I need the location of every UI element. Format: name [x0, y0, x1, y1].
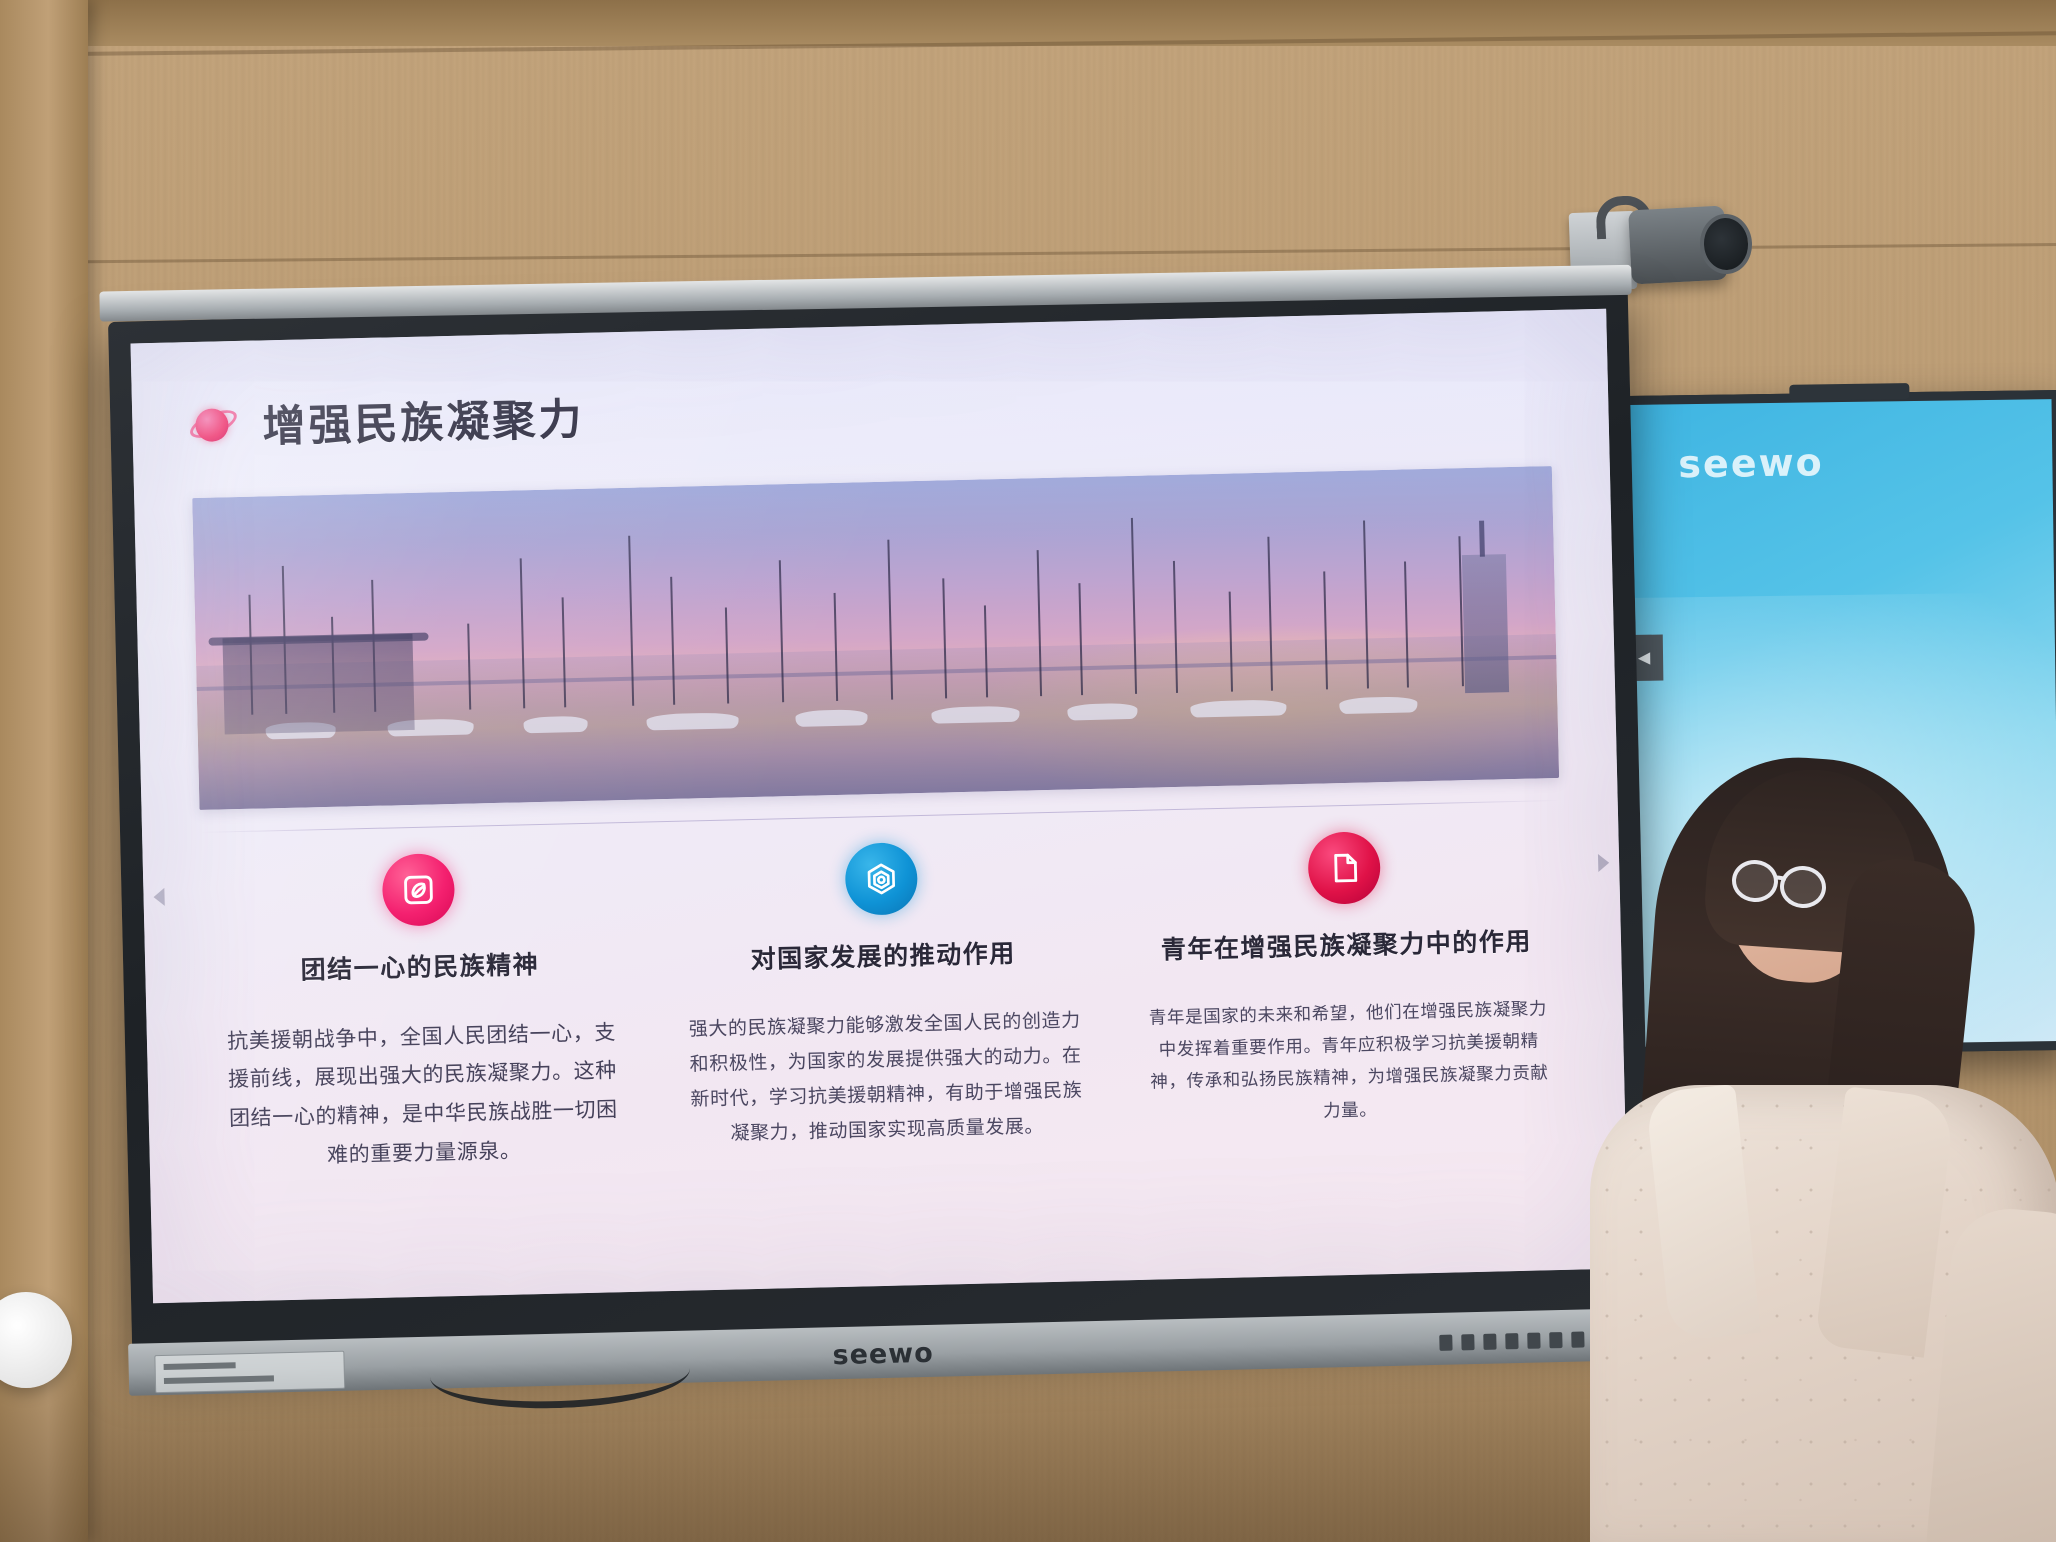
presentation-slide[interactable]: 增强民族凝聚力 [131, 309, 1629, 1304]
column-1-body: 抗美援朝战争中，全国人民团结一心，支援前线，展现出强大的民族凝聚力。这种团结一心… [217, 1013, 630, 1178]
document-icon [1308, 831, 1382, 905]
content-column-3: 青年在增强民族凝聚力中的作用 青年是国家的未来和希望，他们在增强民族凝聚力中发挥… [1127, 827, 1568, 1157]
person-standing [1580, 740, 2056, 1542]
column-1-heading: 团结一心的民族精神 [215, 947, 625, 989]
slide-header: 增强民族凝聚力 [190, 362, 1551, 456]
column-3-body: 青年是国家的未来和希望，他们在增强民族凝聚力中发挥着重要作用。青年应积极学习抗美… [1143, 992, 1555, 1131]
secondary-display-topbar [1789, 383, 1909, 401]
prev-slide-arrow[interactable] [153, 888, 164, 906]
content-column-1: 团结一心的民族精神 抗美援朝战争中，全国人民团结一心，支援前线，展现出强大的民族… [201, 849, 642, 1179]
display-screen[interactable]: 增强民族凝聚力 [131, 309, 1629, 1304]
page-title: 增强民族凝聚力 [262, 385, 585, 455]
planet-icon [190, 401, 237, 448]
main-interactive-display[interactable]: 增强民族凝聚力 [108, 286, 1652, 1352]
harbor-tower [1462, 554, 1509, 693]
column-2-body: 强大的民族凝聚力能够激发全国人民的创造力和积极性，为国家的发展提供强大的动力。在… [680, 1003, 1093, 1153]
column-3-heading: 青年在增强民族凝聚力中的作用 [1141, 925, 1551, 967]
wall-top-band [0, 0, 2056, 46]
hexagon-target-icon [844, 842, 918, 916]
content-column-2: 对国家发展的推动作用 强大的民族凝聚力能够激发全国人民的创造力和积极性，为国家的… [664, 838, 1105, 1168]
columns-container: 团结一心的民族精神 抗美援朝战争中，全国人民团结一心，支援前线，展现出强大的民族… [201, 827, 1568, 1179]
seewo-logo-main: seewo [832, 1338, 934, 1371]
marina-sunset-photo [192, 466, 1559, 810]
display-spec-label [154, 1351, 345, 1393]
seewo-logo-secondary: seewo [1678, 440, 1824, 486]
note-pen-icon [381, 853, 455, 927]
harbor-pavilion [223, 634, 415, 734]
column-2-heading: 对国家发展的推动作用 [678, 936, 1088, 978]
